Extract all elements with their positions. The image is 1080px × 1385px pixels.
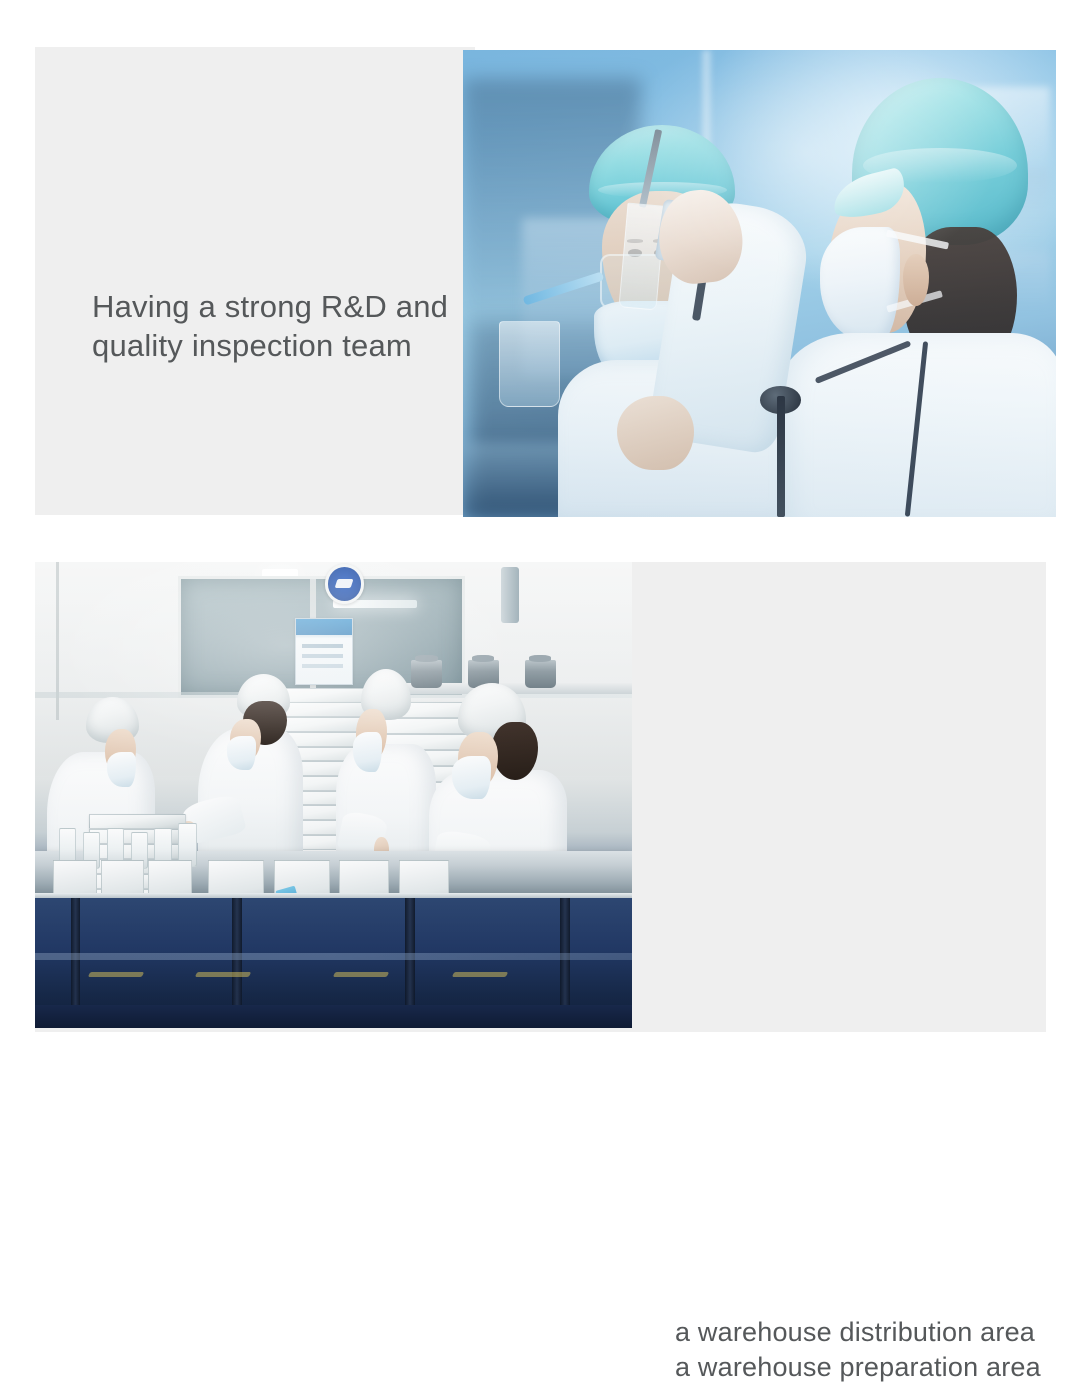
- floor: [35, 1005, 632, 1028]
- face-mask: [353, 732, 382, 772]
- table-cross-rail: [35, 953, 632, 960]
- glass-flask: [499, 321, 560, 407]
- lab-stand-pole: [777, 396, 785, 517]
- cleanroom-scene: [35, 562, 632, 1028]
- lab-scene: [463, 50, 1056, 517]
- floor-marking: [452, 972, 508, 977]
- bottom-caption-line-2: a warehouse preparation area: [675, 1352, 1041, 1382]
- lower-hand: [617, 396, 694, 471]
- warehouse-packaging-cleanroom-photo: [35, 562, 632, 1028]
- bottom-caption-line-1: a warehouse distribution area: [675, 1317, 1035, 1347]
- face-mask: [107, 752, 136, 788]
- extraction-pipe: [501, 567, 519, 623]
- floor-marking: [87, 972, 143, 977]
- top-caption-line-2: quality inspection team: [92, 328, 412, 363]
- bottom-caption-text: a warehouse distribution areaa warehouse…: [675, 1315, 1041, 1385]
- face-mask: [227, 736, 256, 770]
- face-mask: [820, 227, 900, 341]
- carton: [89, 814, 187, 829]
- top-caption-text: Having a strong R&D andquality inspectio…: [92, 287, 448, 365]
- page-canvas: Having a strong R&D andquality inspectio…: [0, 0, 1080, 1080]
- top-caption-panel: Having a strong R&D andquality inspectio…: [35, 47, 475, 515]
- face-mask: [452, 756, 491, 800]
- ear: [903, 254, 929, 307]
- floor-marking: [195, 972, 251, 977]
- laboratory-quality-inspection-photo: [463, 50, 1056, 517]
- top-caption-line-1: Having a strong R&D and: [92, 289, 448, 324]
- lab-technician-profile: [789, 78, 1056, 517]
- floor-marking: [332, 972, 388, 977]
- blue-round-sign: [325, 564, 364, 604]
